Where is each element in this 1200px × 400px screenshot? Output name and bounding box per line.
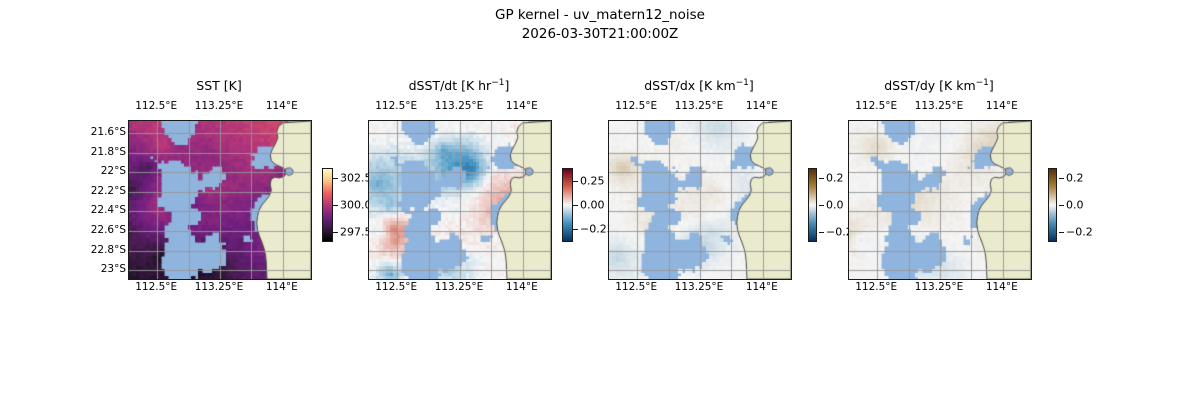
colorbar-tick-label: 302.5 (340, 171, 372, 184)
map-raster-sst (129, 121, 311, 279)
xtick-label: 113.25°E (435, 100, 484, 112)
xtick-labels-top-dsst-dt: 112.5°E113.25°E114°E (342, 100, 576, 114)
map-raster-dsst-dx (609, 121, 791, 279)
colorbar-tick-label: 297.5 (340, 226, 372, 239)
xtick-labels-bottom-dsst-dy: 112.5°E113.25°E114°E (822, 281, 1056, 295)
panel-title-dsst-dx-tail: ] (749, 78, 754, 93)
panel-title-dsst-dt: dSST/dt [K hr−1] (348, 78, 570, 93)
figure-title: GP kernel - uv_matern12_noise2026-03-30T… (0, 6, 1200, 44)
xtick-label: 114°E (506, 100, 538, 112)
xtick-label: 112.5°E (855, 100, 897, 112)
panel-title-dsst-dt-main: dSST/dt [K hr (409, 78, 492, 93)
panel-title-dsst-dy-main: dSST/dy [K km (884, 78, 975, 93)
xtick-label: 114°E (266, 100, 298, 112)
xtick-label: 114°E (266, 281, 298, 293)
xtick-label: 112.5°E (855, 281, 897, 293)
xtick-label: 113.25°E (915, 100, 964, 112)
colorbar-tick-mark (819, 205, 824, 206)
ytick-label: 22.4°S (91, 204, 126, 216)
ytick-label: 22.8°S (91, 244, 126, 256)
colorbar-tick-mark (1059, 232, 1064, 233)
colorbar-tick-mark (573, 205, 578, 206)
figure-title-line2: 2026-03-30T21:00:00Z (522, 26, 679, 42)
colorbar-dsst-dy[interactable]: 0.20.0−0.2 (1048, 168, 1057, 242)
ytick-label: 21.6°S (91, 126, 126, 138)
xtick-label: 112.5°E (375, 100, 417, 112)
map-raster-dsst-dy (849, 121, 1031, 279)
panel-title-dsst-dy: dSST/dy [K km−1] (828, 78, 1050, 93)
colorbar-tick-label: 0.2 (826, 171, 844, 184)
colorbar-tick-mark (333, 205, 338, 206)
map-axes-sst[interactable] (128, 120, 312, 280)
xtick-labels-bottom-dsst-dt: 112.5°E113.25°E114°E (342, 281, 576, 295)
colorbar-ticks-dsst-dy: 0.20.0−0.2 (1059, 163, 1121, 247)
figure-canvas: GP kernel - uv_matern12_noise2026-03-30T… (0, 0, 1200, 400)
xtick-label: 113.25°E (675, 100, 724, 112)
colorbar-tick-mark (333, 232, 338, 233)
panel-title-dsst-dx-main: dSST/dx [K km (644, 78, 735, 93)
xtick-label: 114°E (986, 281, 1018, 293)
xtick-label: 113.25°E (435, 281, 484, 293)
xtick-label: 112.5°E (615, 100, 657, 112)
figure-title-line1: GP kernel - uv_matern12_noise (495, 7, 705, 23)
colorbar-tick-mark (333, 178, 338, 179)
ytick-label: 21.8°S (91, 146, 126, 158)
panel-title-dsst-dt-tail: ] (504, 78, 509, 93)
colorbar-tick-label: 0.25 (580, 175, 605, 188)
xtick-labels-bottom-sst: 112.5°E113.25°E114°E (102, 281, 336, 295)
xtick-label: 112.5°E (375, 281, 417, 293)
xtick-label: 112.5°E (135, 100, 177, 112)
colorbar-tick-mark (1059, 205, 1064, 206)
colorbar-tick-label: 0.00 (580, 199, 605, 212)
ytick-label: 22.2°S (91, 185, 126, 197)
map-axes-dsst-dy[interactable] (848, 120, 1032, 280)
ytick-labels-sst: 21.6°S21.8°S22°S22.2°S22.4°S22.6°S22.8°S… (62, 120, 126, 278)
colorbar-tick-mark (1059, 178, 1064, 179)
panel-sst[interactable]: SST [K] 112.5°E113.25°E114°E 21.6°S21.8°… (128, 120, 310, 278)
panel-dsst-dt[interactable]: dSST/dt [K hr−1] 112.5°E113.25°E114°E 11… (368, 120, 550, 278)
colorbar-dsst-dt[interactable]: 0.250.00−0.25 (562, 168, 573, 242)
ytick-label: 22°S (101, 165, 126, 177)
map-axes-dsst-dt[interactable] (368, 120, 552, 280)
xtick-label: 113.25°E (195, 281, 244, 293)
panel-title-dsst-dt-sup: −1 (491, 78, 504, 88)
xtick-labels-top-dsst-dx: 112.5°E113.25°E114°E (582, 100, 816, 114)
colorbar-tick-label: 0.0 (826, 199, 844, 212)
panel-title-sst: SST [K] (108, 78, 330, 93)
colorbar-sst[interactable]: 302.5300.0297.5 (322, 168, 333, 242)
colorbar-tick-label: 0.2 (1066, 171, 1084, 184)
colorbar-tick-mark (819, 178, 824, 179)
xtick-labels-top-dsst-dy: 112.5°E113.25°E114°E (822, 100, 1056, 114)
panel-dsst-dy[interactable]: dSST/dy [K km−1] 112.5°E113.25°E114°E 11… (848, 120, 1030, 278)
xtick-label: 113.25°E (195, 100, 244, 112)
colorbar-tick-label: −0.2 (1066, 226, 1093, 239)
panel-title-dsst-dy-tail: ] (989, 78, 994, 93)
colorbar-dsst-dx[interactable]: 0.20.0−0.2 (808, 168, 817, 242)
colorbar-tick-mark (819, 232, 824, 233)
xtick-label: 114°E (986, 100, 1018, 112)
xtick-label: 113.25°E (915, 281, 964, 293)
xtick-label: 113.25°E (675, 281, 724, 293)
panel-title-dsst-dy-sup: −1 (976, 78, 989, 88)
colorbar-tick-label: 0.0 (1066, 199, 1084, 212)
xtick-labels-bottom-dsst-dx: 112.5°E113.25°E114°E (582, 281, 816, 295)
panel-title-dsst-dx-sup: −1 (736, 78, 749, 88)
map-raster-dsst-dt (369, 121, 551, 279)
xtick-label: 112.5°E (135, 281, 177, 293)
xtick-labels-top-sst: 112.5°E113.25°E114°E (102, 100, 336, 114)
xtick-label: 114°E (506, 281, 538, 293)
ytick-label: 23°S (101, 263, 126, 275)
colorbar-tick-mark (573, 181, 578, 182)
panel-dsst-dx[interactable]: dSST/dx [K km−1] 112.5°E113.25°E114°E 11… (608, 120, 790, 278)
xtick-label: 114°E (746, 100, 778, 112)
ytick-label: 22.6°S (91, 224, 126, 236)
xtick-label: 112.5°E (615, 281, 657, 293)
map-axes-dsst-dx[interactable] (608, 120, 792, 280)
xtick-label: 114°E (746, 281, 778, 293)
colorbar-tick-label: 300.0 (340, 199, 372, 212)
colorbar-tick-mark (573, 229, 578, 230)
panel-title-dsst-dx: dSST/dx [K km−1] (588, 78, 810, 93)
